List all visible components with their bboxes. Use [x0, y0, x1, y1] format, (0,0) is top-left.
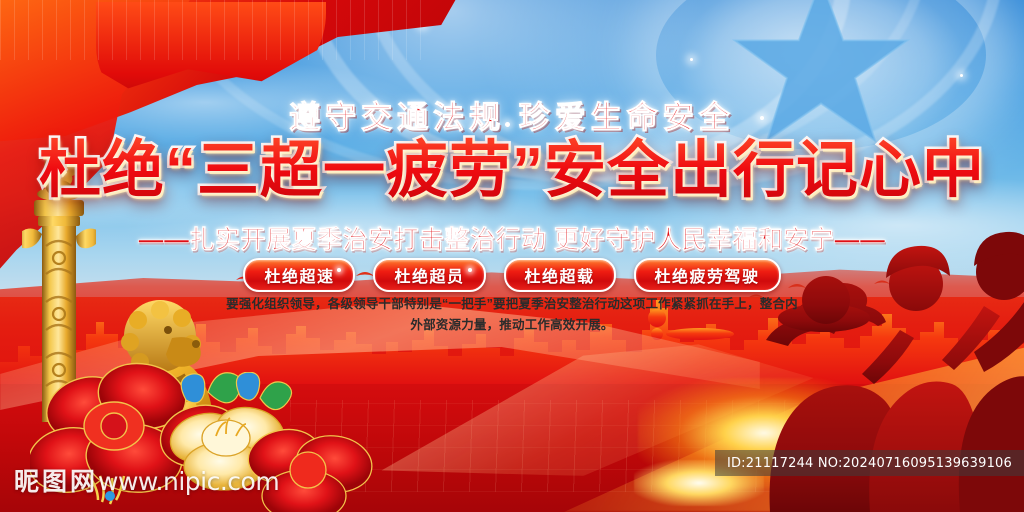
pill-glint-icon: [468, 268, 472, 272]
subtitle-text: ——扎实开展夏季治安打击整治行动 更好守护人民幸福和安宁——: [0, 220, 1024, 256]
slogan-pill-3[interactable]: 杜绝超载: [504, 258, 616, 292]
watermark: 昵图网 www.nipic.com: [14, 462, 279, 498]
sparkle-icon: [690, 58, 693, 61]
slogan-pill-group: 杜绝超速 杜绝超员 杜绝超载 杜绝疲劳驾驶: [0, 258, 1024, 292]
image-id-text: ID:21117244 NO:20240716095139639106: [727, 456, 1012, 471]
slogan-pill-4-label: 杜绝疲劳驾驶: [655, 263, 760, 287]
watermark-site-url: www.nipic.com: [98, 467, 279, 496]
slogan-pill-2-label: 杜绝超员: [394, 263, 464, 287]
main-title: 杜绝“三超一疲劳”安全出行记心中: [0, 132, 1024, 210]
headline-text: 遵守交通法规 珍爱生命安全: [0, 92, 1024, 137]
slogan-pill-3-label: 杜绝超载: [525, 263, 595, 287]
body-paragraph: 要强化组织领导，各级领导干部特别是“一把手”要把夏季治安整治行动这项工作紧紧抓在…: [222, 294, 802, 336]
flag-stripe-texture: [0, 0, 430, 60]
slogan-pill-1-label: 杜绝超速: [264, 263, 334, 287]
poster-canvas: 遵守交通法规 珍爱生命安全 杜绝“三超一疲劳”安全出行记心中 杜绝“三超一疲劳”…: [0, 0, 1024, 512]
watermark-site-name: 昵图网: [14, 462, 98, 498]
slogan-pill-1[interactable]: 杜绝超速: [243, 258, 355, 292]
slogan-pill-4[interactable]: 杜绝疲劳驾驶: [634, 258, 781, 292]
slogan-pill-2[interactable]: 杜绝超员: [373, 258, 485, 292]
sparkle-icon: [960, 74, 963, 77]
image-id-bar: ID:21117244 NO:20240716095139639106: [715, 450, 1024, 476]
pill-glint-icon: [337, 268, 341, 272]
